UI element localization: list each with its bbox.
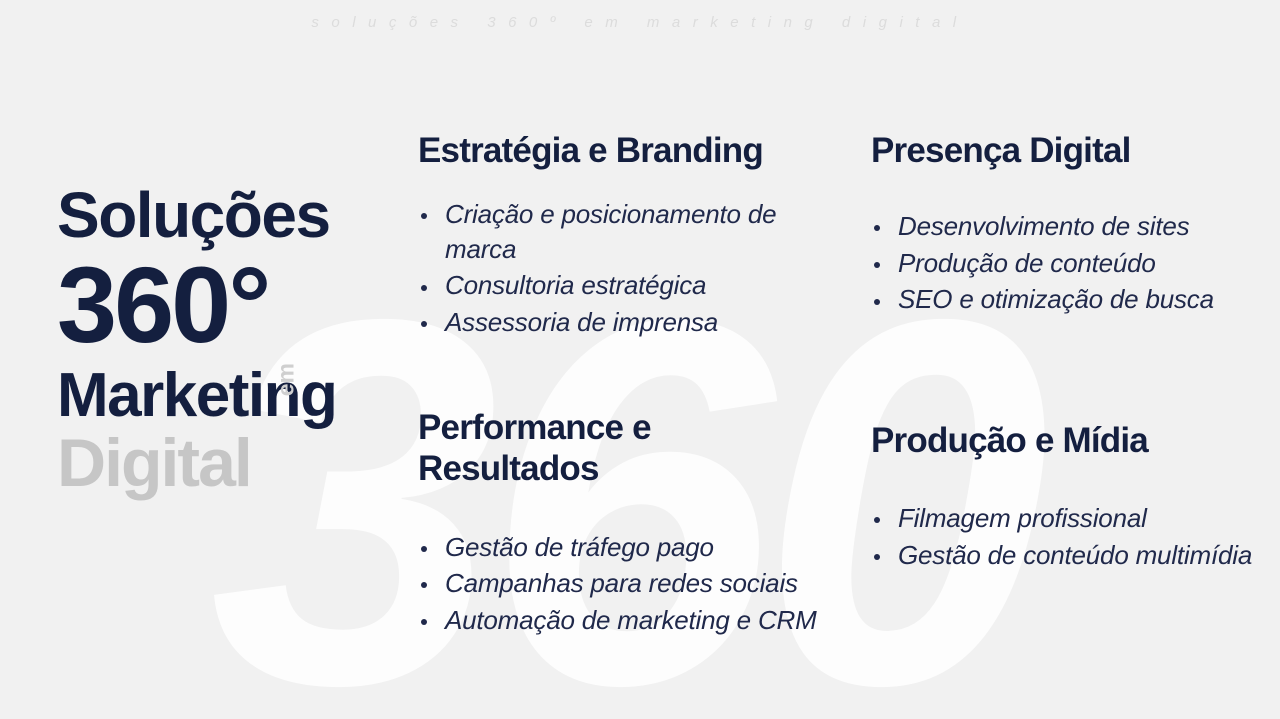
hero-line-solucoes: Soluções [57, 183, 336, 247]
eyebrow-tagline: soluções 360º em marketing digital [0, 14, 1280, 31]
card-bullet-label: Filmagem profissional [898, 503, 1147, 533]
card-bullet-label: Criação e posicionamento de marca [445, 199, 776, 264]
hero-360-row: 360° em [57, 251, 268, 359]
bullet-dot-icon [421, 321, 427, 327]
bullet-dot-icon [874, 554, 880, 560]
card-bullet-item: Gestão de tráfego pago [418, 530, 848, 565]
hero-title-block: Soluções 360° em Marketing Digital [57, 183, 336, 497]
bullet-dot-icon [421, 546, 427, 552]
card-title: Estratégia e Branding [418, 130, 848, 171]
card-title: Produção e Mídia [871, 420, 1271, 461]
card-bullet-item: Criação e posicionamento de marca [418, 197, 848, 266]
bullet-dot-icon [421, 285, 427, 291]
hero-line-360: 360° [57, 251, 268, 359]
bullet-dot-icon [421, 619, 427, 625]
bullet-dot-icon [874, 299, 880, 305]
card-bullet-label: Automação de marketing e CRM [445, 605, 817, 635]
card-bullet-list: Gestão de tráfego pagoCampanhas para red… [418, 530, 848, 638]
slide-canvas: 360 soluções 360º em marketing digital S… [0, 0, 1280, 719]
card-bullet-item: Filmagem profissional [871, 501, 1271, 536]
card-bullet-item: Desenvolvimento de sites [871, 209, 1271, 244]
service-card-producao: Produção e Mídia Filmagem profissionalGe… [871, 420, 1271, 574]
card-bullet-label: Gestão de tráfego pago [445, 532, 714, 562]
card-bullet-label: Gestão de conteúdo multimídia [898, 540, 1252, 570]
hero-vertical-em-label: em [272, 363, 299, 396]
bullet-dot-icon [421, 213, 427, 219]
card-bullet-list: Filmagem profissionalGestão de conteúdo … [871, 501, 1271, 572]
service-card-presenca: Presença Digital Desenvolvimento de site… [871, 130, 1271, 319]
hero-line-digital: Digital [57, 429, 336, 497]
bullet-dot-icon [874, 262, 880, 268]
card-title: Performance e Resultados [418, 407, 848, 490]
bullet-dot-icon [421, 582, 427, 588]
card-bullet-label: SEO e otimização de busca [898, 284, 1214, 314]
card-bullet-label: Produção de conteúdo [898, 248, 1156, 278]
card-bullet-list: Desenvolvimento de sitesProdução de cont… [871, 209, 1271, 317]
card-bullet-item: Consultoria estratégica [418, 268, 848, 303]
card-bullet-item: Automação de marketing e CRM [418, 603, 848, 638]
card-bullet-item: Assessoria de imprensa [418, 305, 848, 340]
bullet-dot-icon [874, 225, 880, 231]
card-bullet-label: Assessoria de imprensa [445, 307, 718, 337]
bullet-dot-icon [874, 517, 880, 523]
service-card-estrategia: Estratégia e Branding Criação e posicion… [418, 130, 848, 342]
card-bullet-item: Gestão de conteúdo multimídia [871, 538, 1271, 573]
card-bullet-label: Desenvolvimento de sites [898, 211, 1189, 241]
card-bullet-label: Campanhas para redes sociais [445, 568, 798, 598]
card-bullet-label: Consultoria estratégica [445, 270, 706, 300]
card-bullet-item: SEO e otimização de busca [871, 282, 1271, 317]
card-title: Presença Digital [871, 130, 1271, 171]
card-bullet-list: Criação e posicionamento de marcaConsult… [418, 197, 848, 339]
card-bullet-item: Produção de conteúdo [871, 246, 1271, 281]
service-card-performance: Performance e Resultados Gestão de tráfe… [418, 407, 848, 639]
card-bullet-item: Campanhas para redes sociais [418, 566, 848, 601]
